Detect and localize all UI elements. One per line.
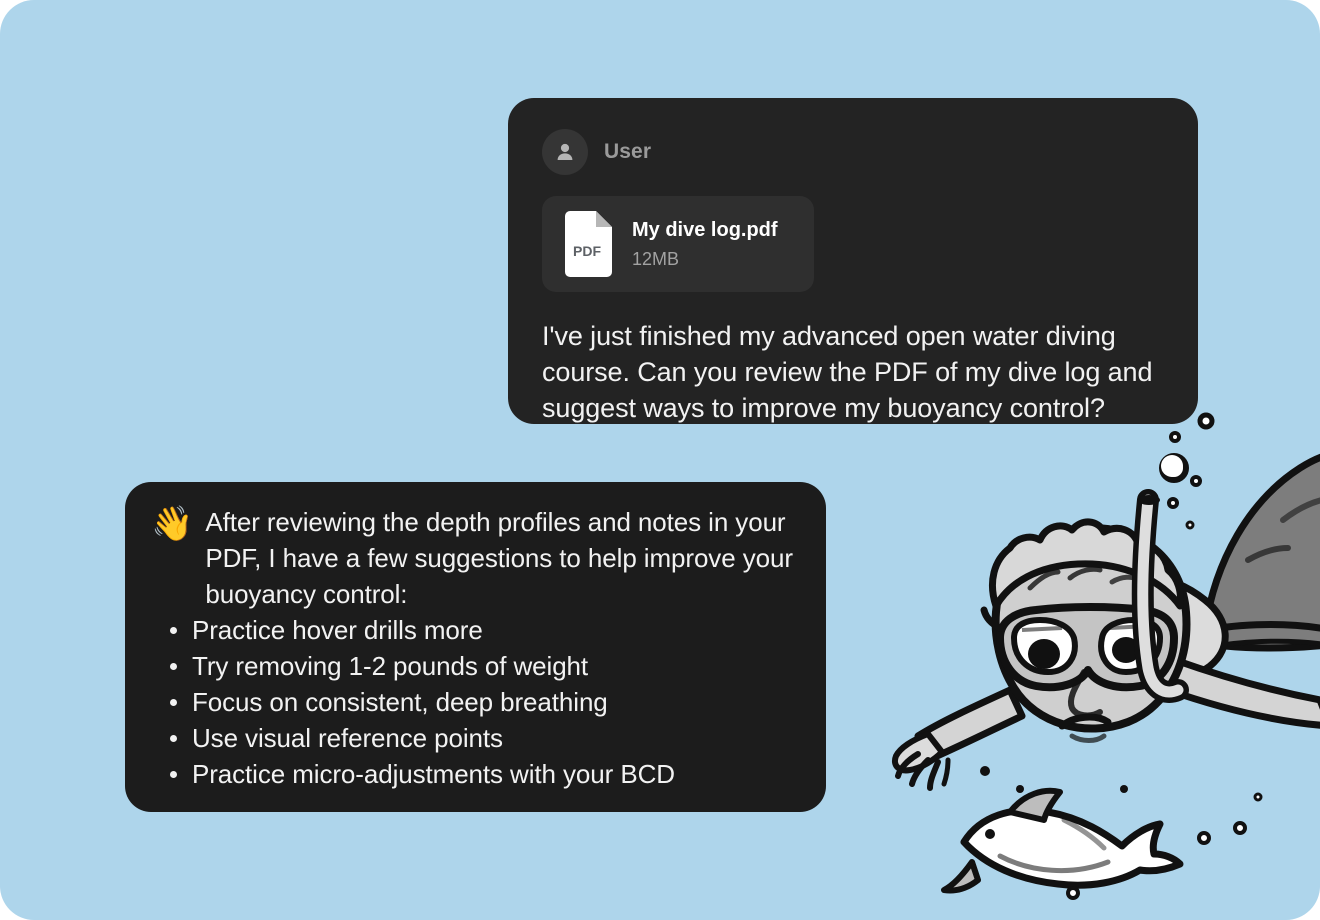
swimmer-hand (895, 734, 948, 788)
assistant-intro-text: After reviewing the depth profiles and n… (205, 504, 800, 612)
waving-hand-icon: 👋 (151, 505, 193, 543)
attachment-file-name: My dive log.pdf (632, 219, 778, 242)
pdf-attachment-card[interactable]: PDF My dive log.pdf 12MB (542, 196, 814, 292)
assistant-message-card: 👋 After reviewing the depth profiles and… (125, 482, 826, 812)
list-item: Practice hover drills more (192, 612, 800, 648)
bubble-cluster (980, 385, 1261, 898)
list-item: Focus on consistent, deep breathing (192, 684, 800, 720)
list-item: Practice micro-adjustments with your BCD (192, 756, 800, 792)
swimmer-figure (895, 452, 1320, 788)
snorkel-icon (1138, 495, 1178, 692)
user-author-label: User (604, 140, 651, 164)
fish-illustration (944, 791, 1180, 891)
list-item: Try removing 1-2 pounds of weight (192, 648, 800, 684)
screenshot-canvas: User PDF My dive log.pdf 12MB I've just … (0, 0, 1320, 920)
pdf-icon-label: PDF (573, 243, 601, 259)
pdf-file-icon: PDF (560, 210, 616, 278)
person-icon (553, 140, 577, 164)
user-message-text: I've just finished my advanced open wate… (542, 318, 1164, 426)
assistant-intro-row: 👋 After reviewing the depth profiles and… (151, 504, 800, 612)
attachment-file-size: 12MB (632, 249, 778, 270)
user-message-card: User PDF My dive log.pdf 12MB I've just … (508, 98, 1198, 424)
dive-mask-icon (984, 607, 1174, 687)
list-item: Use visual reference points (192, 720, 800, 756)
user-avatar (542, 129, 588, 175)
suggestion-list: Practice hover drills more Try removing … (151, 612, 800, 792)
user-message-header: User (542, 128, 1164, 176)
